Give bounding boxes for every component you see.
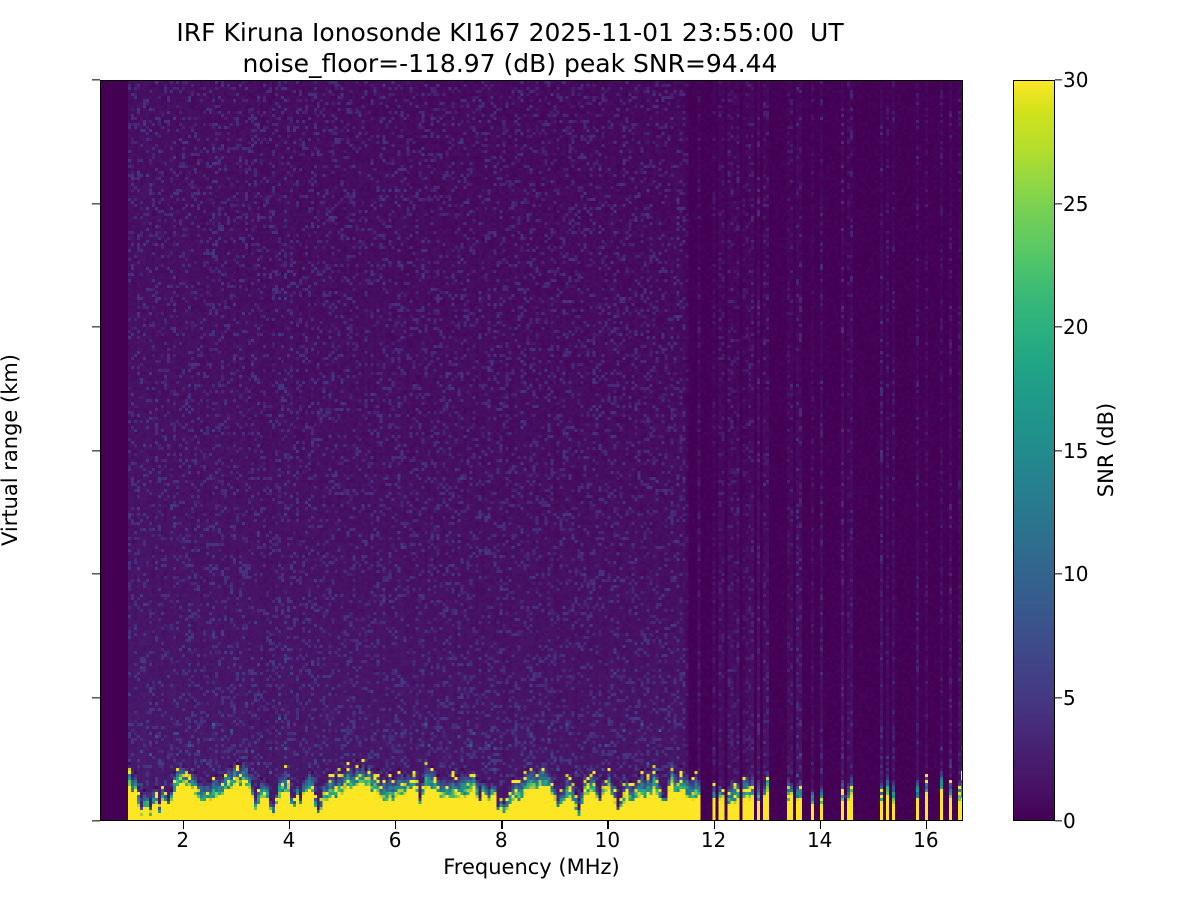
colorbar-tick-label: 25 (1063, 192, 1088, 216)
x-tick-label: 10 (595, 828, 620, 852)
colorbar (1013, 80, 1055, 821)
y-tick-mark (92, 326, 100, 327)
y-tick-mark (92, 697, 100, 698)
y-axis-label: Virtual range (km) (0, 240, 22, 660)
x-tick-label: 2 (176, 828, 189, 852)
y-tick-mark (92, 203, 100, 204)
colorbar-tick-mark (1055, 79, 1062, 80)
colorbar-tick-label: 15 (1063, 439, 1088, 463)
colorbar-tick-label: 30 (1063, 68, 1088, 92)
colorbar-label: SNR (dB) (1094, 403, 1118, 497)
colorbar-tick-mark (1055, 573, 1062, 574)
y-tick-mark (92, 79, 100, 80)
y-tick-mark (92, 573, 100, 574)
colorbar-tick-mark (1055, 326, 1062, 327)
figure-title: IRF Kiruna Ionosonde KI167 2025-11-01 23… (0, 18, 1020, 79)
colorbar-tick-label: 20 (1063, 315, 1088, 339)
y-tick-mark (92, 450, 100, 451)
colorbar-tick-mark (1055, 203, 1062, 204)
colorbar-tick-label: 5 (1063, 686, 1076, 710)
x-tick-label: 14 (807, 828, 832, 852)
ionogram-heatmap (101, 81, 963, 821)
ionogram-figure: IRF Kiruna Ionosonde KI167 2025-11-01 23… (0, 0, 1200, 900)
x-tick-label: 8 (495, 828, 508, 852)
title-line-1: IRF Kiruna Ionosonde KI167 2025-11-01 23… (0, 18, 1020, 49)
title-line-2: noise_floor=-118.97 (dB) peak SNR=94.44 (0, 49, 1020, 80)
colorbar-tick-mark (1055, 820, 1062, 821)
colorbar-tick-mark (1055, 697, 1062, 698)
x-axis-label: Frequency (MHz) (100, 855, 963, 879)
x-tick-label: 12 (701, 828, 726, 852)
colorbar-tick-label: 10 (1063, 562, 1088, 586)
colorbar-gradient (1014, 81, 1054, 820)
colorbar-tick-label: 0 (1063, 809, 1076, 833)
plot-axes (100, 80, 963, 821)
x-tick-label: 6 (389, 828, 402, 852)
x-tick-label: 16 (913, 828, 938, 852)
x-tick-label: 4 (283, 828, 296, 852)
ionogram-canvas (101, 81, 963, 821)
colorbar-tick-mark (1055, 450, 1062, 451)
y-tick-mark (92, 820, 100, 821)
